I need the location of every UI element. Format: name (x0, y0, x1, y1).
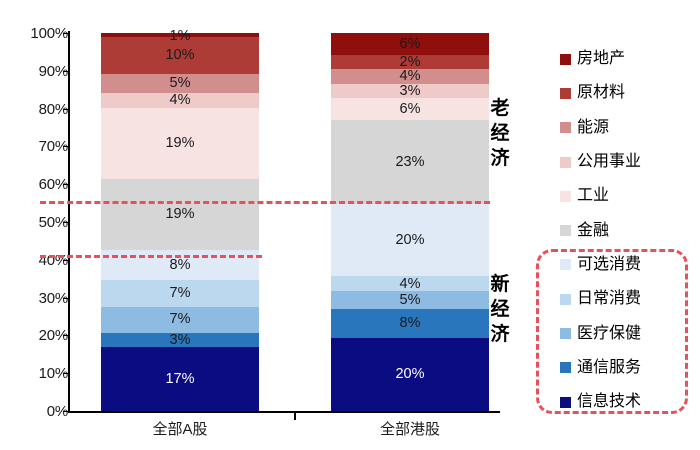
segment-value-label: 17% (165, 372, 194, 387)
bar-segment: 19% (101, 179, 259, 250)
bar-all-a-shares: 1%10%5%4%19%19%8%7%7%3%17% (101, 33, 259, 411)
segment-value-label: 3% (400, 84, 421, 99)
bar-segment: 5% (331, 291, 489, 309)
y-tick-mark (63, 71, 68, 72)
segment-value-label: 20% (395, 233, 424, 248)
bar-segment: 4% (101, 93, 259, 108)
bar-segment: 3% (331, 84, 489, 99)
legend-item-label: 房地产 (577, 50, 625, 68)
y-tick-mark (63, 335, 68, 336)
y-tick-mark (63, 298, 68, 299)
segment-value-label: 19% (165, 136, 194, 151)
y-tick-label: 70% (6, 139, 68, 154)
legend-item-label: 工业 (577, 187, 609, 205)
x-axis-line (68, 411, 500, 413)
legend-swatch-icon (560, 54, 571, 65)
annotation-new-economy: 新经济 (487, 272, 513, 347)
legend-item[interactable]: 日常消费 (560, 282, 695, 316)
bar-segment: 7% (101, 280, 259, 306)
threshold-line-lower (40, 255, 262, 258)
legend-swatch-icon (560, 294, 571, 305)
legend-item-label: 公用事业 (577, 153, 641, 171)
legend-item[interactable]: 可选消费 (560, 248, 695, 282)
y-tick-mark (63, 33, 68, 34)
legend-item[interactable]: 房地产 (560, 42, 695, 76)
segment-value-label: 8% (400, 316, 421, 331)
legend-item-label: 原材料 (577, 84, 625, 102)
segment-value-label: 19% (165, 207, 194, 222)
legend-swatch-icon (560, 225, 571, 236)
legend-swatch-icon (560, 259, 571, 270)
threshold-line-upper (40, 201, 490, 204)
bar-segment: 7% (101, 307, 259, 333)
legend-item[interactable]: 能源 (560, 111, 695, 145)
annotation-char: 新 (487, 272, 513, 297)
y-tick-label: 20% (6, 328, 68, 343)
bar-segment: 20% (331, 338, 489, 411)
y-tick-mark (63, 411, 68, 412)
annotation-char: 经 (487, 297, 513, 322)
bar-segment: 8% (331, 309, 489, 338)
segment-value-label: 5% (170, 76, 191, 91)
y-tick-label: 60% (6, 177, 68, 192)
legend-item[interactable]: 公用事业 (560, 145, 695, 179)
legend-item[interactable]: 原材料 (560, 76, 695, 110)
bar-segment: 19% (101, 108, 259, 179)
annotation-char: 老 (487, 96, 513, 121)
bar-segment: 6% (331, 33, 489, 55)
segment-value-label: 4% (400, 69, 421, 84)
legend-item-label: 日常消费 (577, 290, 641, 308)
y-tick-label: 80% (6, 102, 68, 117)
y-tick-label: 50% (6, 215, 68, 230)
segment-value-label: 3% (170, 333, 191, 348)
y-tick-mark (63, 146, 68, 147)
legend-item-label: 医疗保健 (577, 325, 641, 343)
legend-item-label: 金融 (577, 222, 609, 240)
legend-swatch-icon (560, 397, 571, 408)
segment-value-label: 6% (400, 37, 421, 52)
annotation-char: 济 (487, 322, 513, 347)
x-axis-label-a-shares: 全部A股 (80, 422, 280, 438)
segment-value-label: 7% (170, 286, 191, 301)
legend-item-label: 信息技术 (577, 393, 641, 411)
stacked-bar-chart: 100%90%80%70%60%50%40%30%20%10%0% 1%10%5… (0, 0, 700, 450)
legend-item-label: 能源 (577, 119, 609, 137)
legend: 房地产原材料能源公用事业工业金融可选消费日常消费医疗保健通信服务信息技术 (560, 42, 695, 419)
segment-value-label: 23% (395, 155, 424, 170)
legend-swatch-icon (560, 191, 571, 202)
segment-value-label: 5% (400, 293, 421, 308)
y-tick-mark (63, 373, 68, 374)
x-axis-label-h-shares: 全部港股 (310, 422, 510, 438)
legend-swatch-icon (560, 157, 571, 168)
y-tick-label: 0% (6, 404, 68, 419)
annotation-char: 济 (487, 146, 513, 171)
legend-swatch-icon (560, 122, 571, 133)
y-tick-label: 100% (6, 26, 68, 41)
segment-value-label: 4% (400, 277, 421, 292)
legend-swatch-icon (560, 328, 571, 339)
annotation-char: 经 (487, 121, 513, 146)
y-tick-mark (63, 222, 68, 223)
legend-item-label: 通信服务 (577, 359, 641, 377)
segment-value-label: 10% (165, 48, 194, 63)
legend-item[interactable]: 通信服务 (560, 351, 695, 385)
segment-value-label: 2% (400, 55, 421, 70)
annotation-old-economy: 老经济 (487, 96, 513, 171)
segment-value-label: 20% (395, 367, 424, 382)
legend-swatch-icon (560, 362, 571, 373)
x-axis-center-tick (294, 413, 296, 420)
legend-item[interactable]: 医疗保健 (560, 316, 695, 350)
bar-all-h-shares: 6%2%4%3%6%23%20%4%5%8%20% (331, 33, 489, 411)
bar-segment: 23% (331, 120, 489, 204)
legend-item[interactable]: 工业 (560, 179, 695, 213)
bar-segment: 2% (331, 55, 489, 70)
segment-value-label: 7% (170, 312, 191, 327)
segment-value-label: 4% (170, 93, 191, 108)
bar-segment: 20% (331, 204, 489, 277)
bar-segment: 4% (331, 69, 489, 84)
bar-segment: 4% (331, 276, 489, 291)
bar-segment: 17% (101, 347, 259, 411)
legend-item-label: 可选消费 (577, 256, 641, 274)
segment-value-label: 8% (170, 258, 191, 273)
y-axis-line (68, 31, 70, 413)
legend-item[interactable]: 金融 (560, 213, 695, 247)
y-tick-label: 90% (6, 64, 68, 79)
y-tick-mark (63, 184, 68, 185)
segment-value-label: 1% (170, 29, 191, 44)
legend-item[interactable]: 信息技术 (560, 385, 695, 419)
bar-segment: 5% (101, 74, 259, 93)
bar-segment: 6% (331, 98, 489, 120)
y-tick-label: 10% (6, 366, 68, 381)
y-tick-mark (63, 109, 68, 110)
y-tick-label: 30% (6, 291, 68, 306)
bar-segment: 3% (101, 333, 259, 348)
segment-value-label: 6% (400, 102, 421, 117)
y-tick-mark (63, 260, 68, 261)
legend-swatch-icon (560, 88, 571, 99)
